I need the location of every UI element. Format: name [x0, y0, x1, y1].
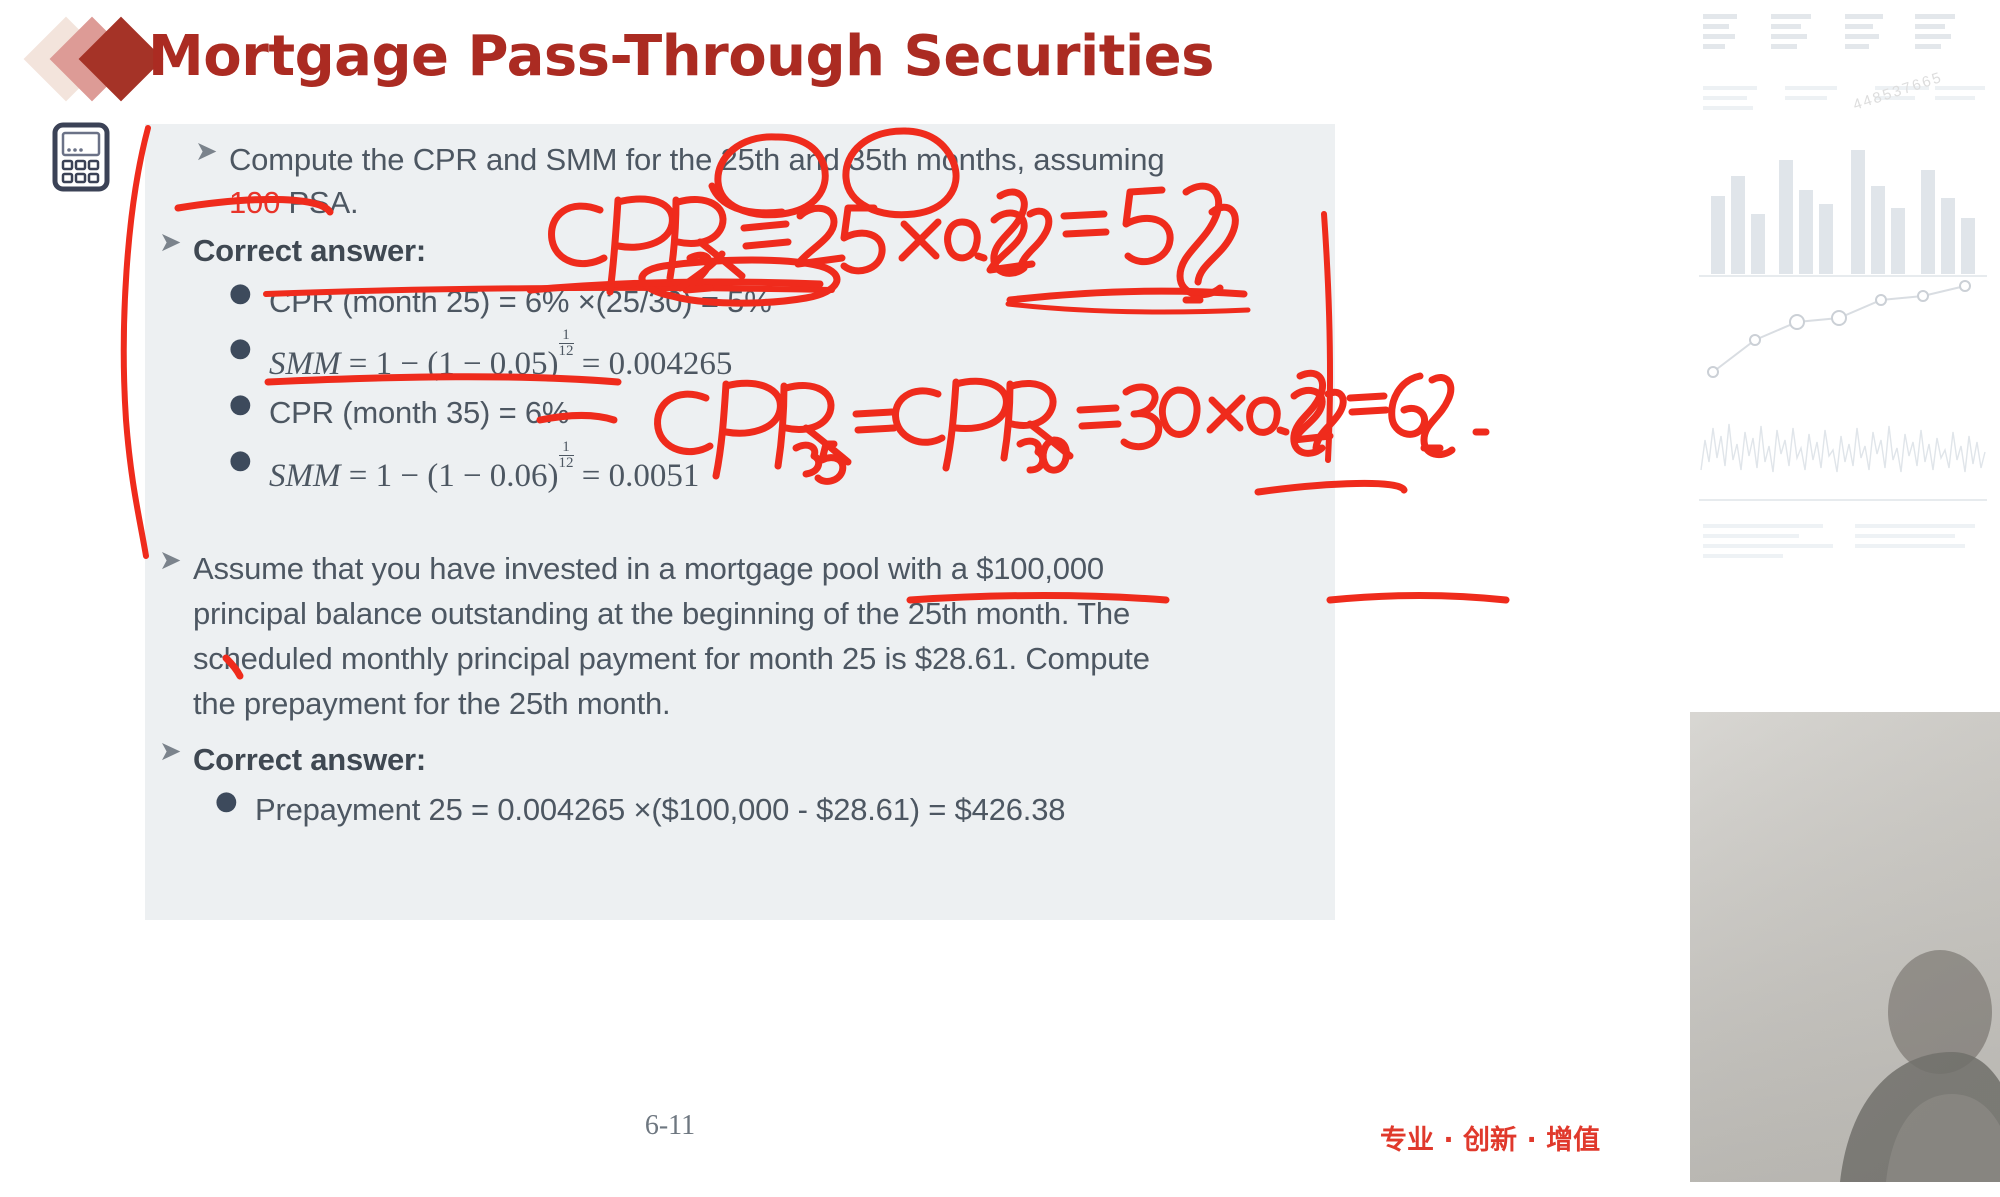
assume-line-3: scheduled monthly principal payment for …	[193, 637, 1150, 682]
list-item: ● SMM = 1 − (1 − 0.05)112 = 0.004265	[229, 335, 732, 383]
presentation-slide: Mortgage Pass-Through Securities ➤ Compu…	[0, 0, 1685, 1197]
assume-line-4: the prepayment for the 25th month.	[193, 682, 1150, 727]
arrow-bullet-icon: ➤	[195, 138, 229, 165]
smm-35-formula: SMM = 1 − (1 − 0.06)112 = 0.0051	[269, 447, 699, 495]
slide-header: Mortgage Pass-Through Securities	[0, 0, 1685, 118]
cpr-month-25-line: CPR (month 25) = 6% ×(25/30) = 5%	[269, 280, 772, 325]
list-item: ● Prepayment 25 = 0.004265 ×($100,000 - …	[215, 788, 1065, 833]
list-item: ● SMM = 1 − (1 − 0.06)112 = 0.0051	[229, 447, 699, 495]
correct-answer-label-2: ➤ Correct answer:	[159, 738, 426, 783]
psa-value: 100	[229, 185, 280, 220]
list-item: ➤ Assume that you have invested in a mor…	[159, 547, 1279, 727]
prepayment-line: Prepayment 25 = 0.004265 ×($100,000 - $2…	[255, 788, 1065, 833]
presenter-video	[1690, 712, 2000, 1182]
list-item: ➤ Compute the CPR and SMM for the 25th a…	[195, 138, 1285, 183]
round-bullet-icon: ●	[229, 280, 269, 306]
document-thumbnail: 448537665	[1685, 0, 2000, 690]
assume-line-1: Assume that you have invested in a mortg…	[193, 547, 1150, 592]
arrow-bullet-icon: ➤	[159, 547, 193, 574]
list-item: ● CPR (month 35) = 6%	[229, 391, 569, 436]
diamond-logo-icon	[36, 23, 158, 95]
list-item: ● CPR (month 25) = 6% ×(25/30) = 5%	[229, 280, 772, 325]
slide-content-panel: ➤ Compute the CPR and SMM for the 25th a…	[145, 124, 1335, 920]
psa-label: PSA.	[280, 185, 358, 220]
round-bullet-icon: ●	[215, 788, 255, 814]
round-bullet-icon: ●	[229, 391, 269, 417]
round-bullet-icon: ●	[229, 447, 269, 473]
right-side-panel: 448537665	[1685, 0, 2000, 1197]
smm-25-formula: SMM = 1 − (1 − 0.05)112 = 0.004265	[269, 335, 732, 383]
question-text: Compute the CPR and SMM for the 25th and…	[229, 138, 1164, 183]
round-bullet-icon: ●	[229, 335, 269, 361]
page-number: 6-11	[0, 1110, 1340, 1142]
arrow-bullet-icon: ➤	[159, 229, 193, 256]
brand-slogan: 专业 · 创新 · 增值	[1380, 1118, 1600, 1157]
calculator-icon	[52, 122, 110, 192]
assume-line-2: principal balance outstanding at the beg…	[193, 592, 1150, 637]
cpr-month-35-line: CPR (month 35) = 6%	[269, 391, 569, 436]
correct-answer-label-1: ➤ Correct answer:	[159, 229, 426, 274]
arrow-bullet-icon: ➤	[159, 738, 193, 765]
question-line-2: 100 PSA.	[229, 181, 358, 226]
page-title: Mortgage Pass-Through Securities	[148, 24, 1214, 89]
